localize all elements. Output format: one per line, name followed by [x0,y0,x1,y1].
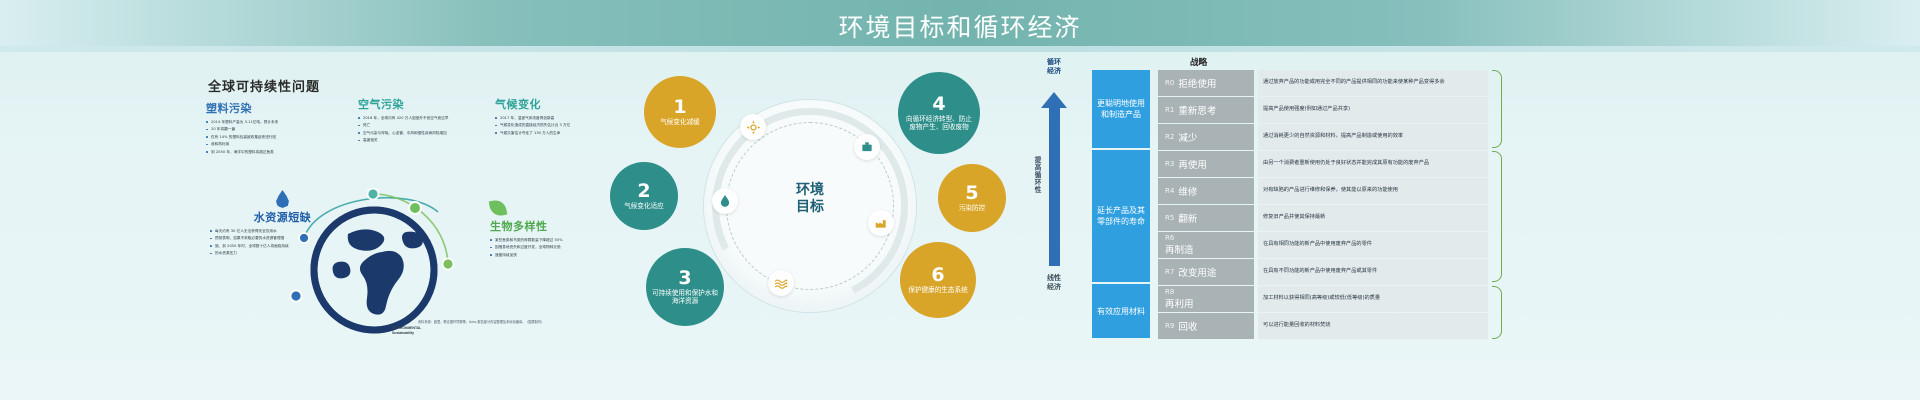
brace-group-3 [1492,286,1502,339]
group-useful-materials: 有效应用材料 [1092,284,1150,338]
page-header: 环境目标和循环经济 [0,0,1920,46]
issue-plastic-bullets: 2014 年塑料产量为 3.11亿吨，预计未来 20 年将翻一番 仅有 14% … [206,119,346,155]
strategy-cell-r6[interactable]: R6 再制造 [1158,232,1254,258]
wheel-inner-icon-2 [712,188,738,214]
strategy-r8-name: 再利用 [1165,296,1194,310]
objective-5-label: 污染防控 [953,204,991,212]
strategy-r6-id: R6 [1165,234,1174,242]
page-title: 环境目标和循环经济 [0,8,1920,44]
strategy-cell-r1[interactable]: R1 重新思考 [1158,97,1254,123]
brace-group-2 [1492,151,1502,282]
objective-6-label: 保护健康的生态系统 [902,286,973,294]
issue-plastic-heading: 塑料污染 [206,100,346,116]
wheel-inner-icon-1 [740,114,766,140]
objective-bubble-2[interactable]: 2 气候变化适应 [610,162,678,230]
objective-bubble-4[interactable]: 4 向循环经济转型、防止废物产生、回收废物 [898,72,980,154]
strategy-r2-description: 通过消耗更少的自然资源和材料，提高产品制造或使用的效率 [1258,124,1488,150]
left-infographic-panel: 全球可持续性问题 塑料污染 2014 年塑料产量为 3.11亿吨，预计未来 20… [190,58,660,298]
strategy-r1-description: 提高产品使用强度(例如通过产品共享) [1258,97,1488,123]
org-logo: ENVIRONMENTAL Sustainability [392,326,422,342]
strategy-cell-r9[interactable]: R9 回收 [1158,313,1254,339]
strategy-cell-r4[interactable]: R4 维修 [1158,178,1254,204]
strategy-r5-description: 修复旧产品并使其保持最新 [1258,205,1488,231]
objective-bubble-6[interactable]: 6 保护健康的生态系统 [900,242,976,318]
strategy-r8-description: 加工材料以获得相同(高等级)或较低(低等级)的质量 [1258,286,1488,312]
axis-label-increasing-circularity: 提高循环性 [1032,156,1042,194]
list-item: 收和再利用 [206,141,346,147]
slide-root: 环境目标和循环经济 全球可持续性问题 塑料污染 2014 年塑料产量为 3.11… [0,0,1920,400]
group-extend-lifespan: 延长产品及其零部件的寿命 [1092,150,1150,282]
strategy-r7-name: 改变用途 [1178,265,1216,279]
list-item: 死亡 [358,122,498,128]
axis-arrow-shaft [1049,106,1060,266]
list-item: 仅有 14% 的塑料包装被收集起来进行回 [206,134,346,140]
strategy-r7-description: 在具有不同功能的新产品中使用废弃产品或其零件 [1258,259,1488,285]
column-header-strategy: 战略 [1190,56,1207,68]
strategy-r1-name: 重新思考 [1178,103,1216,117]
strategy-r6-description: 在具有相同功能的新产品中使用废弃产品的零件 [1258,232,1488,258]
issue-plastic: 塑料污染 2014 年塑料产量为 3.11亿吨，预计未来 20 年将翻一番 仅有… [206,100,346,156]
strategy-cell-r0[interactable]: R0 拒绝使用 [1158,70,1254,96]
source-credit: 资料来源：欧盟、联合国环境署等。Auto 报告部分内容整理及本地化编译。（图表制… [418,320,568,325]
strategy-r4-id: R4 [1165,187,1174,195]
strategy-r9-description: 可以进行能量回收的材料焚烧 [1258,313,1488,339]
strategy-r5-name: 翻新 [1178,211,1197,225]
axis-circular-line2: 经济 [1041,67,1067,76]
strategy-cell-r3[interactable]: R3 再使用 [1158,151,1254,177]
recycle-icon [860,140,874,154]
strategy-cell-r8[interactable]: R8 再利用 [1158,286,1254,312]
strategy-r0-name: 拒绝使用 [1178,76,1216,90]
issue-air-bullets: 2016 年，全球约有 420 万人因室外不良空气而过早 死亡 空气污染与呼吸、… [358,115,498,143]
list-item: 2014 年塑料产量为 3.11亿吨，预计未来 [206,119,346,125]
strategy-r2-id: R2 [1165,133,1174,141]
objective-3-label: 可持续使用和保护水和海洋资源 [646,289,724,306]
objective-6-number: 6 [931,266,944,285]
objective-1-label: 气候变化减缓 [654,118,706,126]
strategy-r0-id: R0 [1165,79,1174,87]
wheel-center-label: 环境 目标 [765,182,855,216]
strategy-r4-name: 维修 [1178,184,1197,198]
globe-illustration [278,178,468,338]
strategy-cell-r7[interactable]: R7 改变用途 [1158,259,1254,285]
leaf-icon [489,199,508,218]
strategy-r2-name: 减少 [1178,130,1197,144]
strategy-r3-id: R3 [1165,160,1174,168]
list-item: 高度相关 [358,137,498,143]
strategy-r4-description: 对有缺陷的产品进行维修和保养，使其能以原来的功能使用 [1258,178,1488,204]
issue-air-heading: 空气污染 [358,96,498,112]
objective-4-label: 向循环经济转型、防止废物产生、回收废物 [898,115,980,132]
circular-economy-table-panel: 循环 经济 提高循环性 线性 经济 战略 更聪明地使用和制造产品 延长产品及其零… [1030,52,1890,352]
objective-3-number: 3 [678,269,691,288]
brace-group-1 [1492,70,1502,148]
strategy-r1-id: R1 [1165,106,1174,114]
strategy-r6-name: 再制造 [1165,242,1194,256]
list-item: 20 年将翻一番 [206,126,346,132]
wheel-inner-icon-3 [768,270,794,296]
axis-linear-line2: 经济 [1041,283,1067,292]
objective-5-number: 5 [965,184,978,203]
droplet-icon [718,194,732,208]
wheel-inner-icon-4 [854,134,880,160]
factory-icon [874,216,888,230]
strategy-r5-id: R5 [1165,214,1174,222]
strategy-r3-description: 由另一个消费者重新使用仍处于良好状态并能完成其原有功能的废弃产品 [1258,151,1488,177]
wheel-inner-icon-5 [868,210,894,236]
org-logo-line2: Sustainability [392,331,422,336]
strategy-r3-name: 再使用 [1178,157,1207,171]
objective-bubble-5[interactable]: 5 污染防控 [938,164,1006,232]
strategy-r0-description: 通过放弃产品的功能或用完全不同的产品提供相同的功能来使某种产品变得多余 [1258,70,1488,96]
list-item: 空气污染与呼吸、心血管、中风和慢性疾病风险增加 [358,130,498,136]
list-item: 2016 年，全球约有 420 万人因室外不良空气而过早 [358,115,498,121]
axis-label-linear-economy: 线性 经济 [1041,274,1067,291]
axis-label-circular-economy: 循环 经济 [1041,58,1067,75]
objective-1-number: 1 [673,98,686,117]
leaf-gear-icon [746,120,761,135]
strategy-r9-id: R9 [1165,322,1174,330]
list-item: 到 2050 年，海洋中的塑料将超过鱼类 [206,149,346,155]
objective-2-number: 2 [637,182,650,201]
objective-bubble-3[interactable]: 3 可持续使用和保护水和海洋资源 [646,248,724,326]
wheel-center-line2: 目标 [765,199,855,216]
environmental-objectives-wheel: 环境 目标 [600,52,1020,352]
strategy-r8-id: R8 [1165,288,1174,296]
objective-2-label: 气候变化适应 [618,202,670,210]
objective-4-number: 4 [932,95,945,114]
strategy-r7-id: R7 [1165,268,1174,276]
objective-bubble-1[interactable]: 1 气候变化减缓 [644,76,716,148]
strategy-cell-r2[interactable]: R2 减少 [1158,124,1254,150]
group-smarter-use: 更聪明地使用和制造产品 [1092,70,1150,148]
axis-linear-line1: 线性 [1041,274,1067,283]
axis-circular-line1: 循环 [1041,58,1067,67]
water-wave-icon [774,276,788,290]
issue-air-pollution: 空气污染 2016 年，全球约有 420 万人因室外不良空气而过早 死亡 空气污… [358,96,498,145]
strategy-r9-name: 回收 [1178,319,1197,333]
left-panel-title: 全球可持续性问题 [208,76,320,95]
wheel-center-line1: 环境 [765,182,855,199]
strategy-cell-r5[interactable]: R5 翻新 [1158,205,1254,231]
